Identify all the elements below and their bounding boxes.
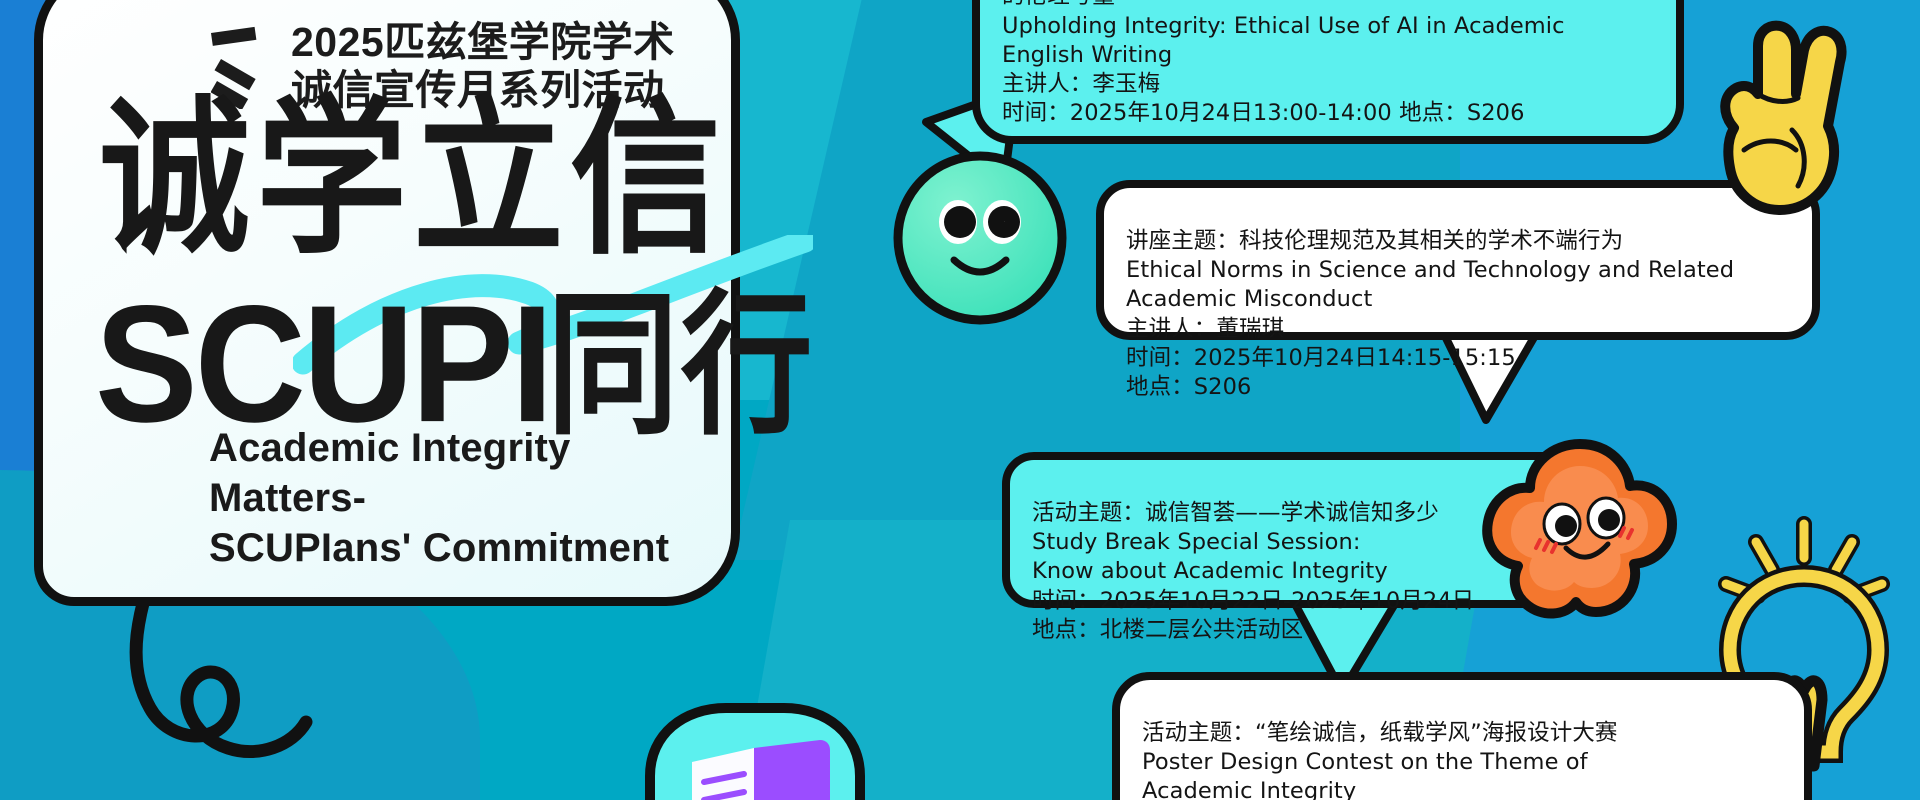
event-bubble-2-text: 讲座主题：科技伦理规范及其相关的学术不端行为 Ethical Norms in … <box>1126 227 1794 402</box>
page-subtitle-en: Academic Integrity Matters- SCUPIans' Co… <box>209 423 731 573</box>
open-book-icon <box>640 700 870 800</box>
poster-canvas: 2025匹兹堡学院学术 诚信宣传月系列活动 诚学立信 SCUPI 同行 Acad… <box>0 0 1920 800</box>
yellow-peace-hand-icon <box>1688 10 1868 220</box>
page-title-cn: 诚学立信 <box>99 95 727 264</box>
orange-flower-face-icon <box>1482 438 1678 624</box>
page-title-cn2: 同行 <box>547 288 815 444</box>
kicker-line-1: 2025匹兹堡学院学术 <box>291 19 675 67</box>
subtitle-line-2: SCUPIans' Commitment <box>209 523 731 573</box>
event-bubble-poster-contest: 活动主题：“笔绘诚信，纸载学风”海报设计大赛 Poster Design Con… <box>1112 672 1812 800</box>
event-bubble-1-text: 讲座主题：恪守学术诚信：人工智能在学术英语写作中应用 的伦理考量 Upholdi… <box>1002 0 1590 128</box>
event-bubble-4-text: 活动主题：“笔绘诚信，纸载学风”海报设计大赛 Poster Design Con… <box>1142 719 1786 800</box>
event-bubble-lecture-ai: 讲座主题：恪守学术诚信：人工智能在学术英语写作中应用 的伦理考量 Upholdi… <box>972 0 1684 144</box>
main-title-bubble: 2025匹兹堡学院学术 诚信宣传月系列活动 诚学立信 SCUPI 同行 Acad… <box>34 0 740 606</box>
subtitle-line-1: Academic Integrity Matters- <box>209 423 731 523</box>
green-smiley-face-icon <box>890 148 1070 328</box>
